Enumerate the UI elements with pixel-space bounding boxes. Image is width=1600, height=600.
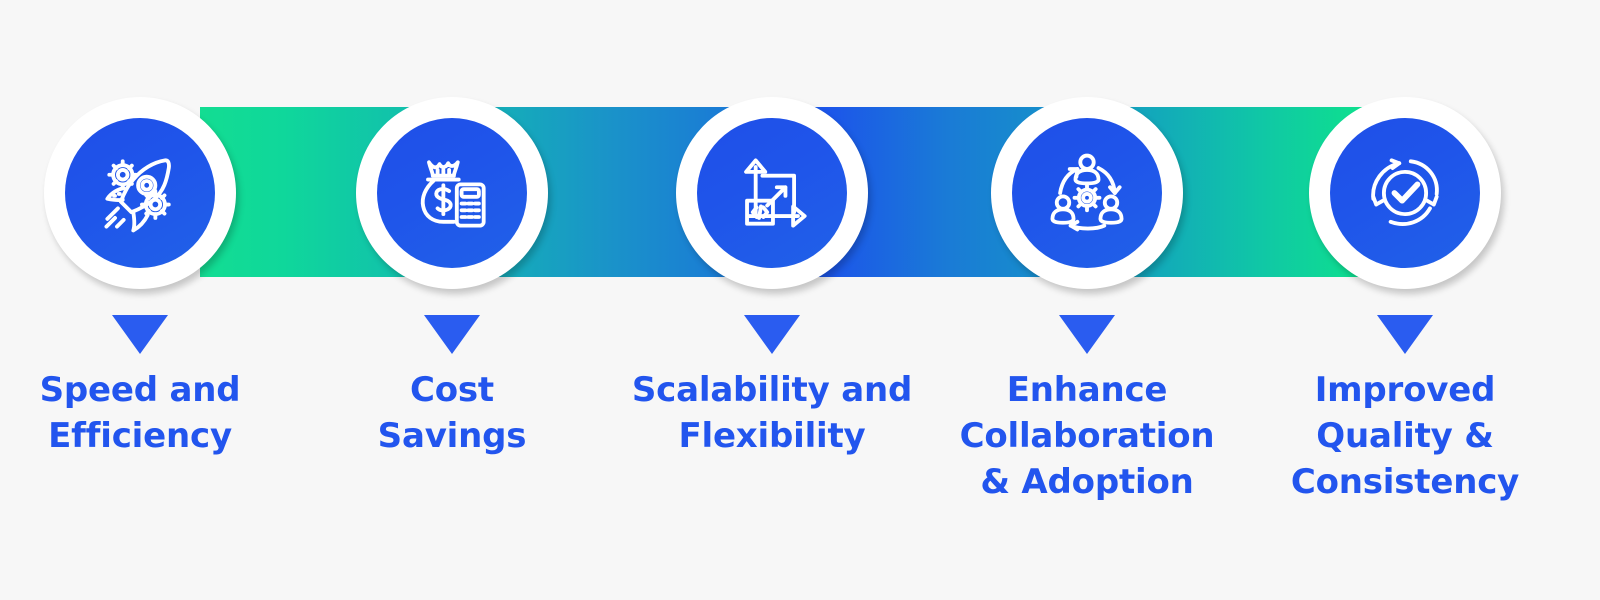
node-label: Improved Quality & Consistency — [1255, 367, 1555, 506]
icon-badge-fill — [697, 118, 847, 268]
icon-badge-fill — [377, 118, 527, 268]
node-label: Speed and Efficiency — [0, 367, 290, 459]
benefits-infographic: Speed and Efficiency — [0, 0, 1600, 600]
node-label: Enhance Collaboration & Adoption — [937, 367, 1237, 506]
pointer-triangle — [112, 315, 168, 354]
icon-badge[interactable] — [44, 97, 236, 289]
icon-badge[interactable] — [1309, 97, 1501, 289]
icon-badge[interactable] — [676, 97, 868, 289]
node-list: Speed and Efficiency — [0, 0, 1600, 600]
icon-badge-fill — [1330, 118, 1480, 268]
code-scale-arrows-icon — [724, 145, 820, 241]
icon-badge-fill — [1012, 118, 1162, 268]
check-circle-refresh-icon — [1357, 145, 1453, 241]
icon-badge[interactable] — [356, 97, 548, 289]
money-bag-calculator-icon — [404, 145, 500, 241]
node-label: Cost Savings — [302, 367, 602, 459]
pointer-triangle — [1059, 315, 1115, 354]
pointer-triangle — [1377, 315, 1433, 354]
rocket-gears-icon — [92, 145, 188, 241]
node-label: Scalability and Flexibility — [622, 367, 922, 459]
pointer-triangle — [744, 315, 800, 354]
icon-badge-fill — [65, 118, 215, 268]
pointer-triangle — [424, 315, 480, 354]
icon-badge[interactable] — [991, 97, 1183, 289]
team-gear-collaboration-icon — [1039, 145, 1135, 241]
